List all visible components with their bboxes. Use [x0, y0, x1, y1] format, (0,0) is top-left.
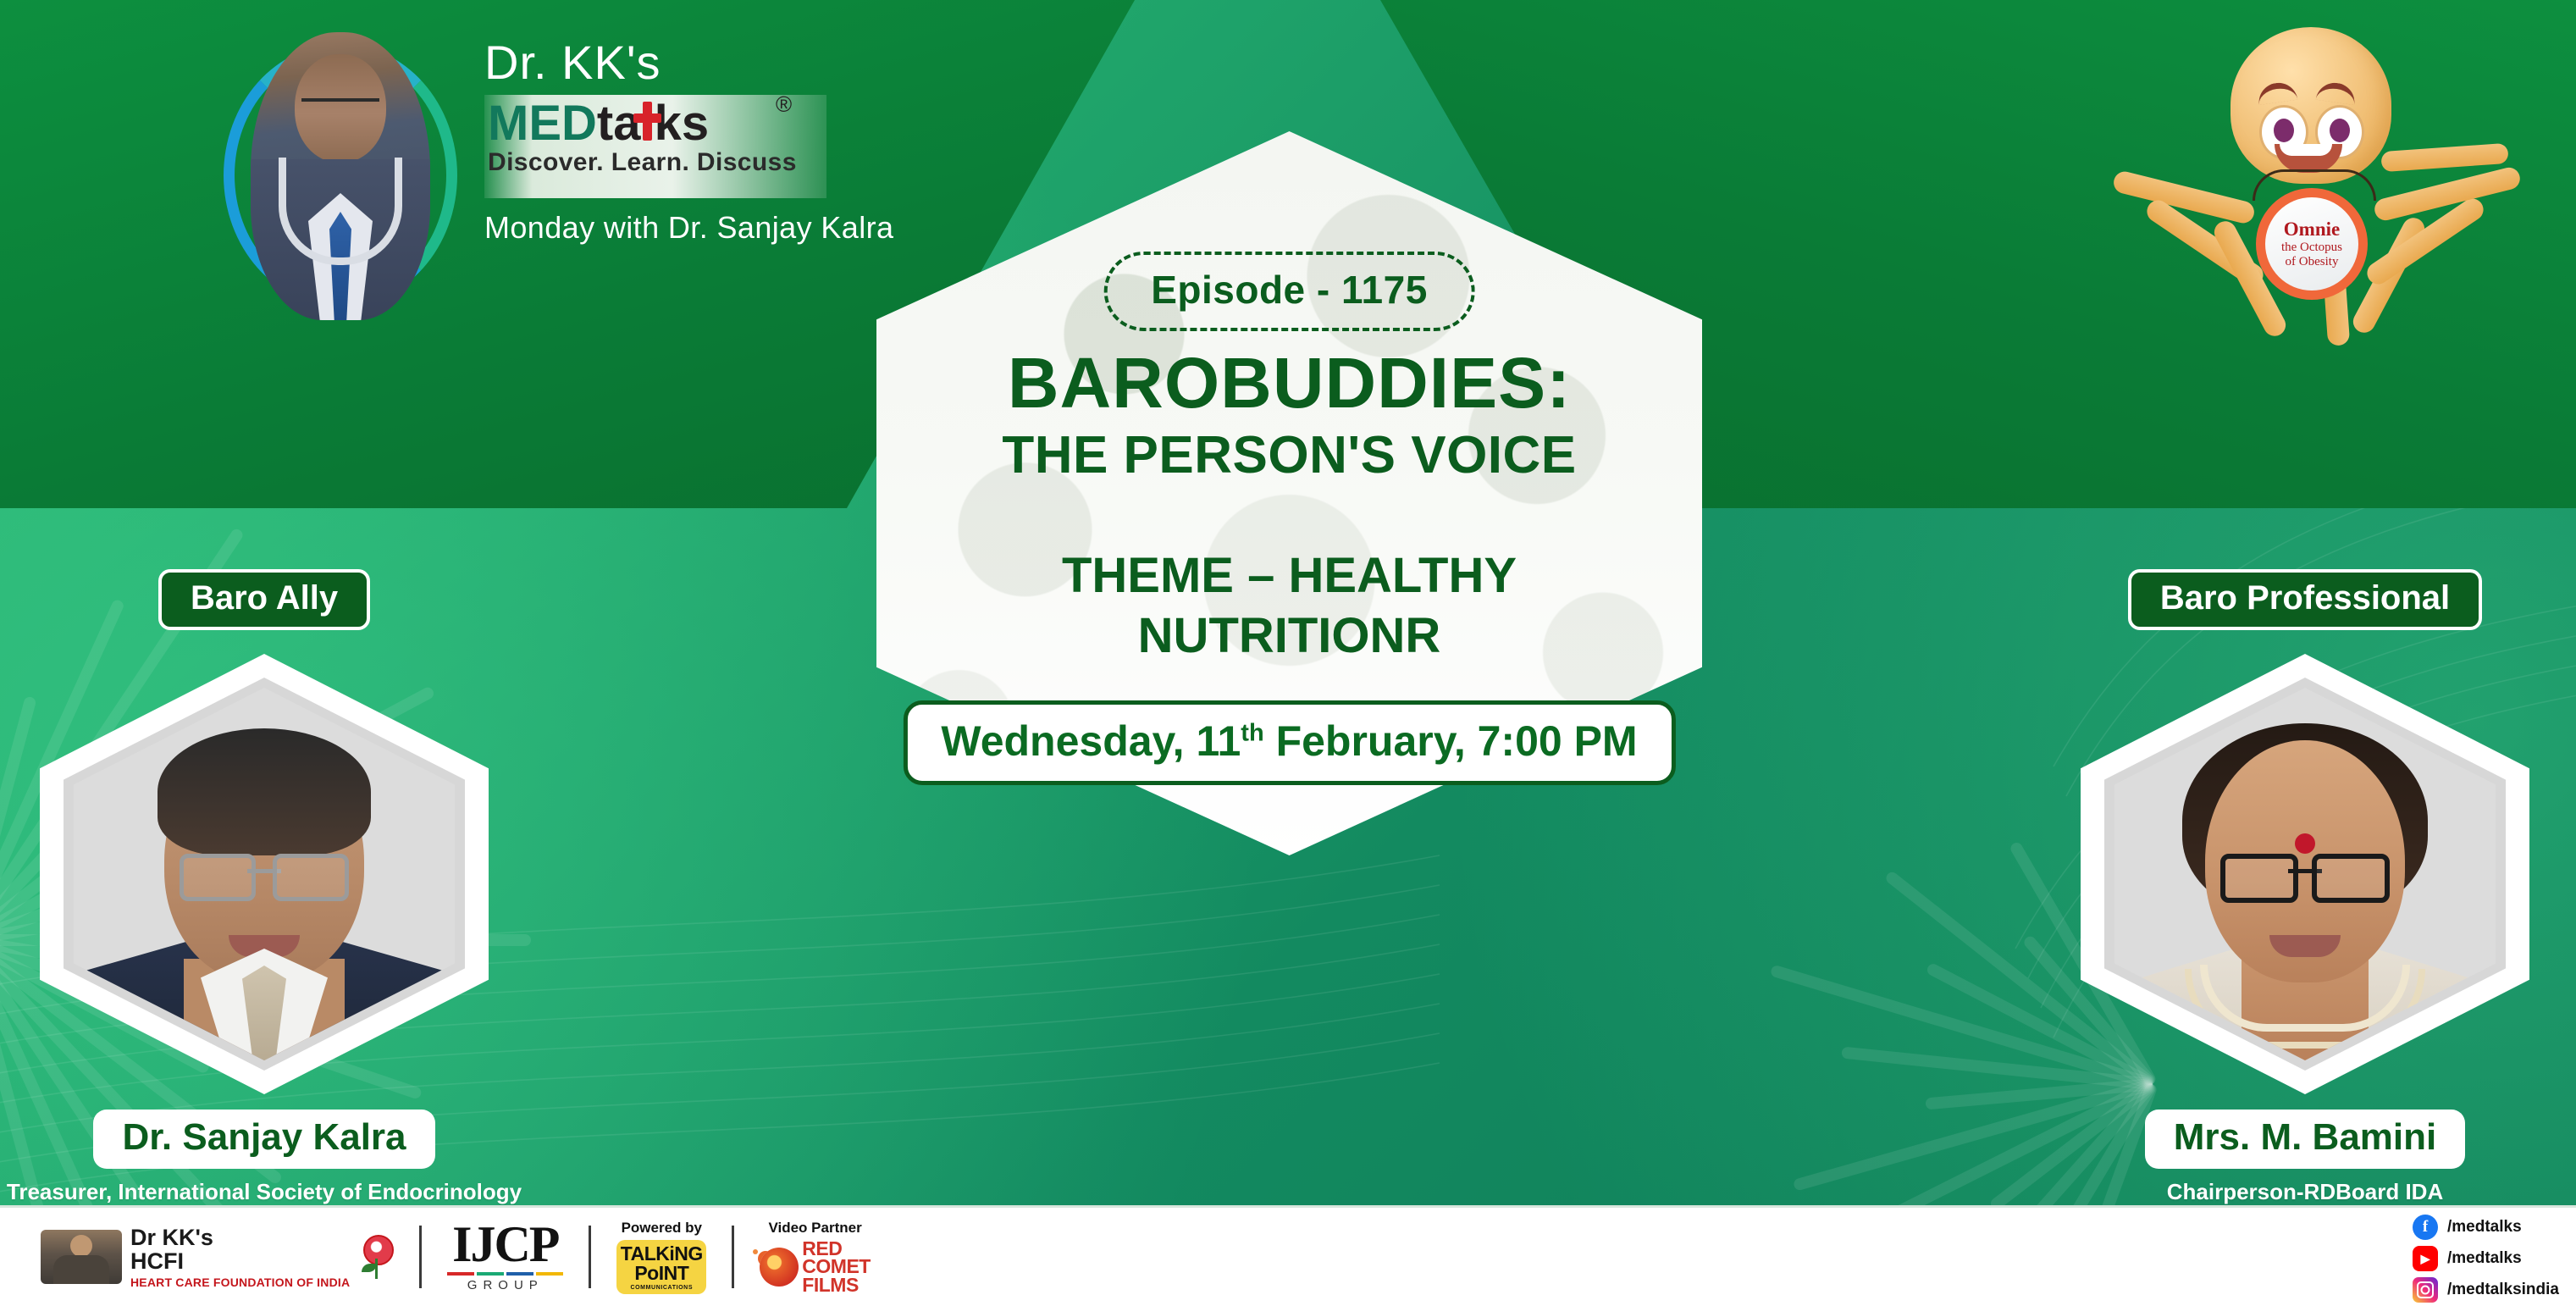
powered-by-block: Powered by TALKiNG PoINT COMMUNICATIONS — [616, 1208, 706, 1306]
speaker-photo-right — [2081, 654, 2529, 1094]
red-comet-films-logo: RED COMET FILMS — [760, 1240, 871, 1295]
mascot-medallion: Omnie the Octopus of Obesity — [2256, 188, 2368, 300]
ijcp-group-label: GROUP — [447, 1278, 563, 1292]
date-prefix: Wednesday, 11 — [941, 717, 1241, 765]
social-links: f /medtalks ▶ /medtalks /medtalksindia — [2413, 1215, 2559, 1303]
medtalks-wordmark: MEDtalks® — [488, 98, 826, 150]
social-link-instagram[interactable]: /medtalksindia — [2413, 1277, 2559, 1303]
rose-icon — [358, 1235, 394, 1279]
medtalks-med: MED — [488, 96, 597, 151]
instagram-handle[interactable]: /medtalksindia — [2447, 1281, 2559, 1299]
tentacle — [2380, 143, 2508, 172]
date-time-pill: Wednesday, 11th February, 7:00 PM — [903, 700, 1675, 785]
powered-by-caption: Powered by — [622, 1220, 702, 1237]
eyebrow-right — [2316, 80, 2358, 105]
medical-cross-icon — [632, 102, 662, 141]
mascot-line2: the Octopus — [2281, 241, 2342, 255]
video-partner-block: Video Partner RED COMET FILMS — [760, 1208, 871, 1306]
speaker-name-left: Dr. Sanjay Kalra — [93, 1110, 434, 1169]
eyeglasses-icon — [180, 854, 349, 894]
theme-text: THEME – HEALTHY NUTRITIONR — [876, 546, 1702, 667]
hcfi-line-3: HEART CARE FOUNDATION OF INDIA — [130, 1276, 350, 1289]
facebook-icon[interactable]: f — [2413, 1215, 2438, 1240]
comet-icon — [760, 1248, 799, 1287]
mascot-line3: of Obesity — [2286, 255, 2339, 269]
role-badge-right: Baro Professional — [2128, 569, 2482, 630]
rcf-line-3: FILMS — [802, 1276, 871, 1295]
registered-mark: ® — [776, 93, 792, 116]
social-link-youtube[interactable]: ▶ /medtalks — [2413, 1246, 2559, 1271]
speaker-card-right: Baro Professional Mrs. M — [2043, 569, 2568, 1306]
brand-logo: Dr. KK's MEDtalks® Discover. Learn. Disc… — [222, 24, 916, 346]
social-link-facebook[interactable]: f /medtalks — [2413, 1215, 2559, 1240]
theme-line-1: THEME – HEALTHY — [876, 546, 1702, 606]
host-line: Monday with Dr. Sanjay Kalra — [484, 210, 916, 246]
divider — [419, 1226, 422, 1288]
speaker-name-right: Mrs. M. Bamini — [2145, 1110, 2466, 1169]
dr-kk-photo — [222, 24, 473, 329]
theme-line-2: NUTRITIONR — [876, 606, 1702, 667]
octopus-head — [2231, 27, 2391, 184]
talking-point-line-2: PoINT — [634, 1264, 688, 1283]
brand-kk-line: Dr. KK's — [484, 39, 916, 86]
talking-point-line-3: COMMUNICATIONS — [630, 1285, 693, 1291]
instagram-icon[interactable] — [2413, 1277, 2438, 1303]
hcfi-logo: Dr KK's HCFI HEART CARE FOUNDATION OF IN… — [41, 1208, 394, 1306]
webinar-poster: Dr. KK's MEDtalks® Discover. Learn. Disc… — [0, 0, 2576, 1306]
center-hexagon: Episode - 1175 BAROBUDDIES: THE PERSON'S… — [876, 131, 1702, 855]
credential-line: Treasurer, International Society of Endo… — [2, 1177, 527, 1206]
speaker-photo-left — [40, 654, 489, 1094]
ijcp-logo: IJCP GROUP — [447, 1208, 563, 1306]
youtube-icon[interactable]: ▶ — [2413, 1246, 2438, 1271]
page-title: BAROBUDDIES: — [876, 347, 1702, 418]
mascot-name: Omnie — [2284, 219, 2340, 241]
youtube-handle[interactable]: /medtalks — [2447, 1249, 2522, 1268]
eyebrow-left — [2257, 80, 2298, 105]
dr-kk-portrait — [251, 32, 430, 320]
footer-bar: Dr KK's HCFI HEART CARE FOUNDATION OF IN… — [0, 1205, 2576, 1306]
talking-point-logo: TALKiNG PoINT COMMUNICATIONS — [616, 1240, 706, 1294]
mouth-shape — [2275, 144, 2342, 173]
hcfi-line-2: HCFI — [130, 1249, 350, 1273]
hcfi-photo — [41, 1230, 122, 1284]
speaker-card-left: Baro Ally Dr. Sanjay Kalra — [2, 569, 527, 1264]
credential-line: Chairperson-RDBoard IDA — [2043, 1177, 2568, 1206]
talking-point-line-1: TALKiNG — [621, 1244, 703, 1264]
bindi-mark — [2295, 833, 2315, 854]
date-suffix: February, 7:00 PM — [1264, 717, 1638, 765]
facebook-handle[interactable]: /medtalks — [2447, 1218, 2522, 1237]
eyeglasses-icon — [2220, 854, 2390, 894]
page-subtitle: THE PERSON'S VOICE — [876, 429, 1702, 482]
ijcp-color-bars — [447, 1272, 563, 1276]
medtalks-tagline: Discover. Learn. Discuss — [488, 148, 826, 177]
ijcp-wordmark: IJCP — [447, 1221, 563, 1268]
divider — [589, 1226, 591, 1288]
eyeglasses-shape — [301, 98, 379, 119]
omnie-octopus-mascot: Omnie the Octopus of Obesity — [2129, 20, 2501, 351]
date-ordinal: th — [1241, 719, 1263, 746]
video-partner-caption: Video Partner — [768, 1220, 861, 1237]
divider — [732, 1226, 734, 1288]
hcfi-line-1: Dr KK's — [130, 1226, 350, 1249]
partner-logos: Dr KK's HCFI HEART CARE FOUNDATION OF IN… — [41, 1208, 871, 1306]
role-badge-left: Baro Ally — [158, 569, 370, 630]
brand-text-block: Dr. KK's MEDtalks® Discover. Learn. Disc… — [484, 39, 916, 246]
medtalks-logo: MEDtalks® Discover. Learn. Discuss — [484, 95, 826, 198]
episode-badge: Episode - 1175 — [1103, 252, 1475, 331]
